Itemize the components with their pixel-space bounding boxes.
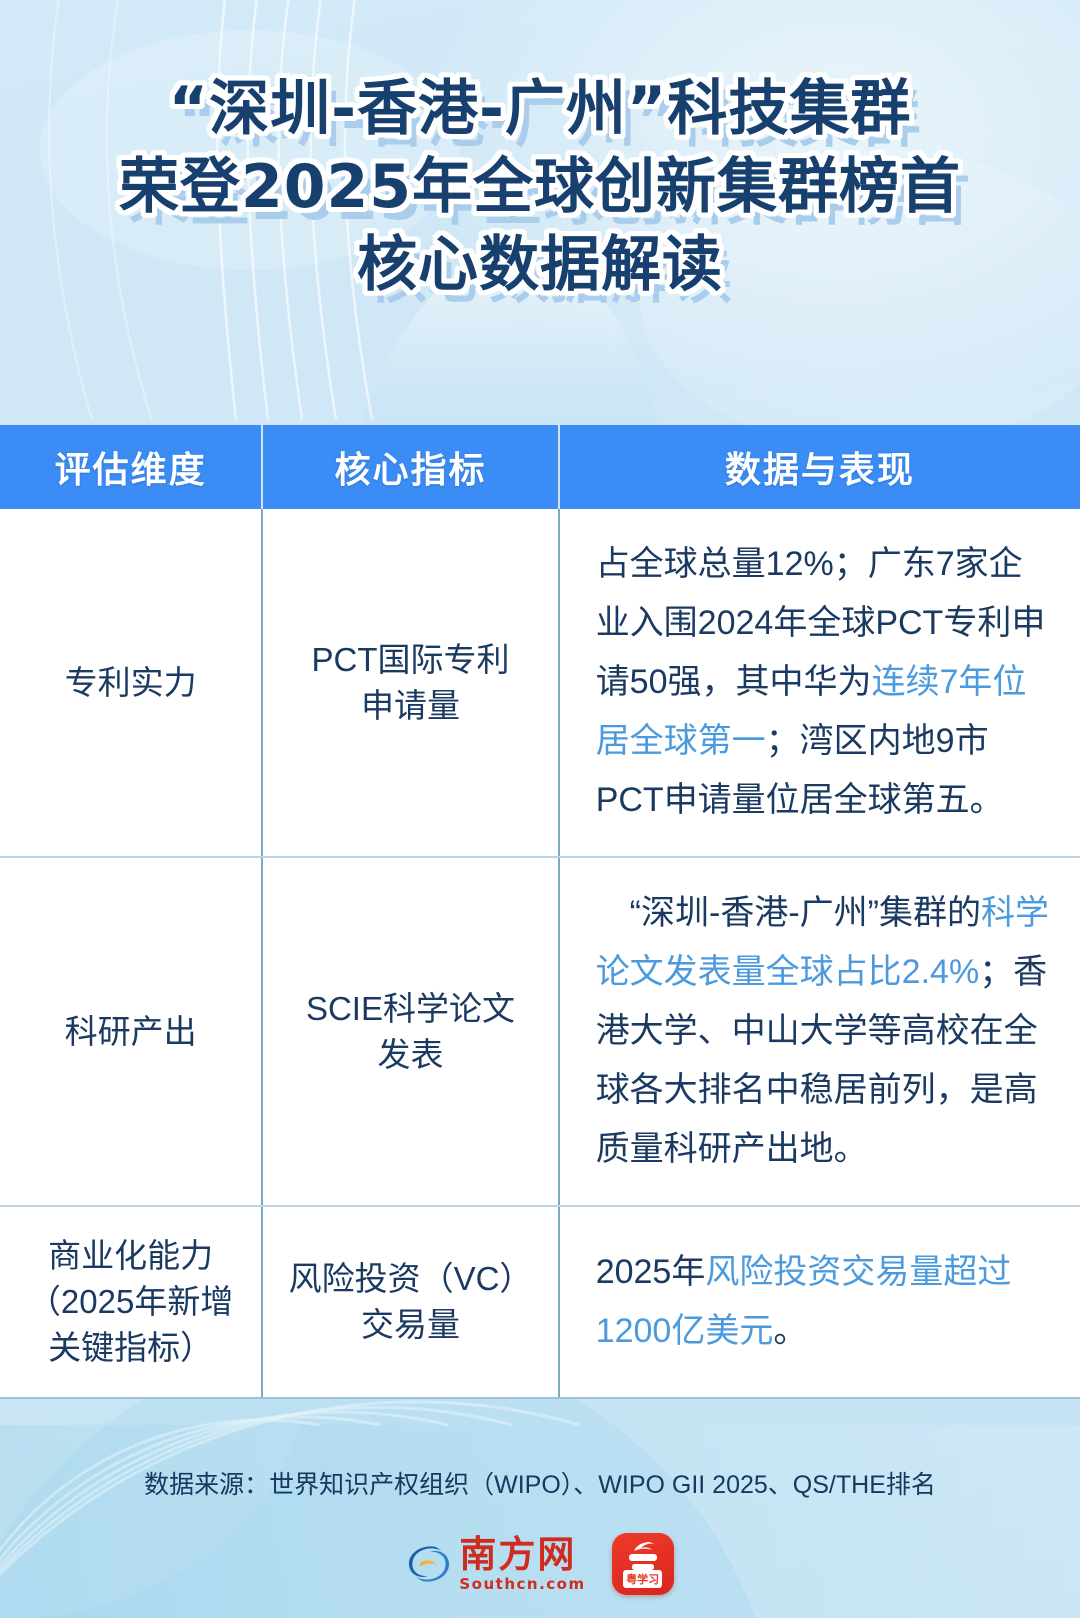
yuexuexi-logo[interactable]: 粤学习 [612,1533,674,1595]
table-row: 专利实力PCT国际专利申请量占全球总量12%；广东7家企业入围2024年全球PC… [0,509,1080,857]
indicator-text: SCIE科学论文发表 [277,986,543,1078]
cell-indicator: SCIE科学论文发表 [262,857,558,1206]
column-header-value: 数据与表现 [559,425,1080,509]
infographic-page: “深圳-香港-广州”科技集群 荣登2025年全球创新集群榜首 核心数据解读 评估… [0,0,1080,1618]
cell-indicator: 风险投资（VC）交易量 [262,1206,558,1398]
column-header-dimension: 评估维度 [0,425,262,509]
indicator-text: PCT国际专利申请量 [277,637,543,729]
dimension-text: 专利实力 [14,660,247,706]
southcn-logo[interactable]: 南方网 Southcn.com [406,1536,585,1592]
data-table: 评估维度 核心指标 数据与表现 专利实力PCT国际专利申请量占全球总量12%；广… [0,425,1080,1399]
table-header-row: 评估维度 核心指标 数据与表现 [0,425,1080,509]
cell-value: 占全球总量12%；广东7家企业入围2024年全球PCT专利申请50强，其中华为连… [559,509,1080,857]
value-text: 占全球总量12%；广东7家企业入围2024年全球PCT专利申请50强，其中华为连… [574,535,1066,830]
page-title: “深圳-香港-广州”科技集群 荣登2025年全球创新集群榜首 核心数据解读 [0,70,1080,304]
table-head: 评估维度 核心指标 数据与表现 [0,425,1080,509]
table-row: 科研产出SCIE科学论文发表 “深圳-香港-广州”集群的科学论文发表量全球占比2… [0,857,1080,1206]
value-segment: 2025年 [596,1253,706,1291]
value-segment: 。 [773,1312,807,1350]
title-line-2: 荣登2025年全球创新集群榜首 [0,148,1080,226]
title-line-3: 核心数据解读 [0,226,1080,304]
value-text: 2025年风险投资交易量超过1200亿美元。 [574,1243,1066,1361]
cell-indicator: PCT国际专利申请量 [262,509,558,857]
title-line-1: “深圳-香港-广州”科技集群 [0,70,1080,148]
cell-value: 2025年风险投资交易量超过1200亿美元。 [559,1206,1080,1398]
cell-dimension: 专利实力 [0,509,262,857]
southcn-name-en: Southcn.com [459,1577,585,1592]
dimension-text: 科研产出 [14,1009,247,1055]
yuexuexi-name-cn: 粤学习 [623,1570,662,1588]
column-header-indicator: 核心指标 [262,425,558,509]
cell-value: “深圳-香港-广州”集群的科学论文发表量全球占比2.4%；香港大学、中山大学等高… [559,857,1080,1206]
footer-logos: 南方网 Southcn.com 粤学习 [0,1533,1080,1595]
value-segment: “深圳-香港-广州”集群的 [596,894,981,932]
header: “深圳-香港-广州”科技集群 荣登2025年全球创新集群榜首 核心数据解读 [0,0,1080,420]
value-text: “深圳-香港-广州”集群的科学论文发表量全球占比2.4%；香港大学、中山大学等高… [574,884,1066,1179]
table-row: 商业化能力（2025年新增关键指标）风险投资（VC）交易量2025年风险投资交易… [0,1206,1080,1398]
table-body: 专利实力PCT国际专利申请量占全球总量12%；广东7家企业入围2024年全球PC… [0,509,1080,1398]
indicator-text: 风险投资（VC）交易量 [277,1256,543,1348]
dimension-text: 商业化能力（2025年新增关键指标） [14,1233,247,1371]
cell-dimension: 商业化能力（2025年新增关键指标） [0,1206,262,1398]
cell-dimension: 科研产出 [0,857,262,1206]
southcn-s-icon [406,1541,452,1587]
southcn-wordmark: 南方网 Southcn.com [459,1536,585,1592]
data-source-note: 数据来源：世界知识产权组织（WIPO）、WIPO GII 2025、QS/THE… [0,1468,1080,1502]
southcn-name-cn: 南方网 [459,1536,576,1573]
